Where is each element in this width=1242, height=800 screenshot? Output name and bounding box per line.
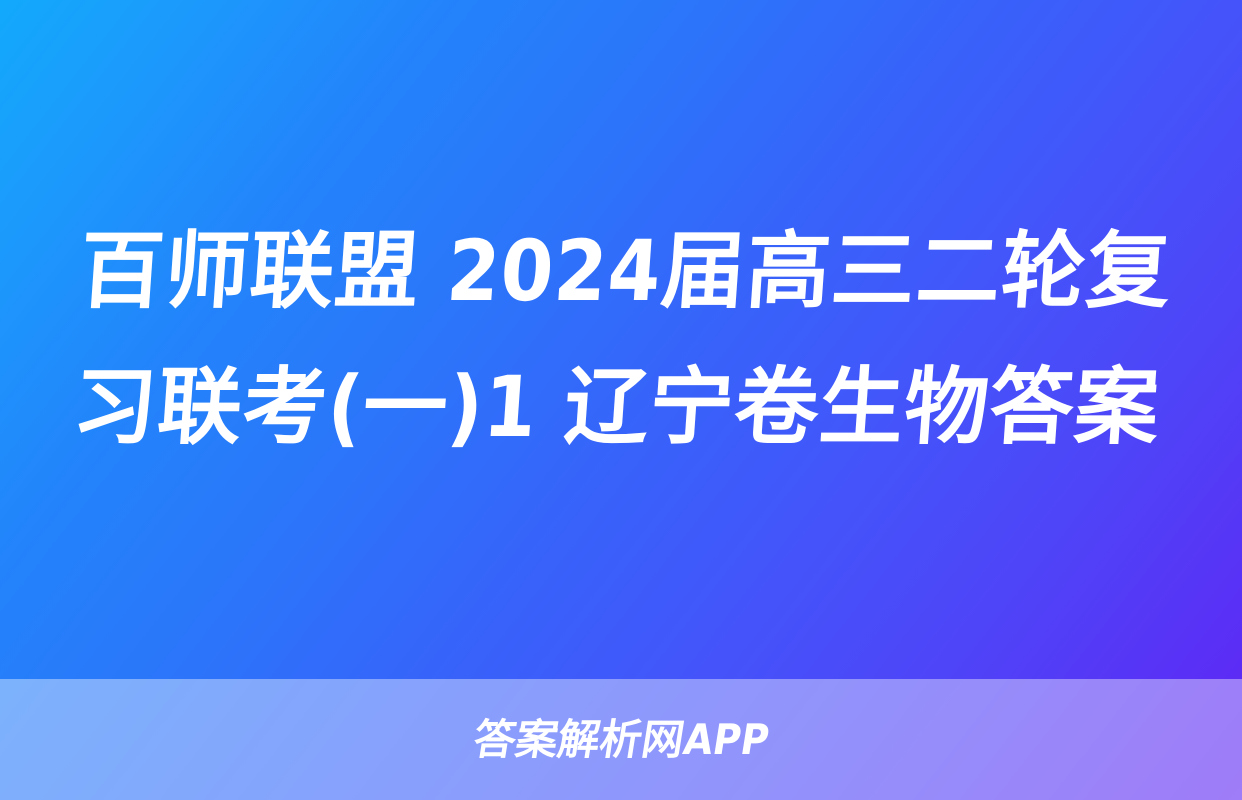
page-title: 百师联盟 2024届高三二轮复习联考(一)1 辽宁卷生物答案	[58, 203, 1183, 475]
hero-title-container: 百师联盟 2024届高三二轮复习联考(一)1 辽宁卷生物答案	[0, 0, 1242, 679]
poster-canvas: 百师联盟 2024届高三二轮复习联考(一)1 辽宁卷生物答案 答案解析网APP	[0, 0, 1242, 800]
watermark-label: 答案解析网APP	[470, 719, 771, 761]
watermark-band: 答案解析网APP	[0, 679, 1242, 800]
